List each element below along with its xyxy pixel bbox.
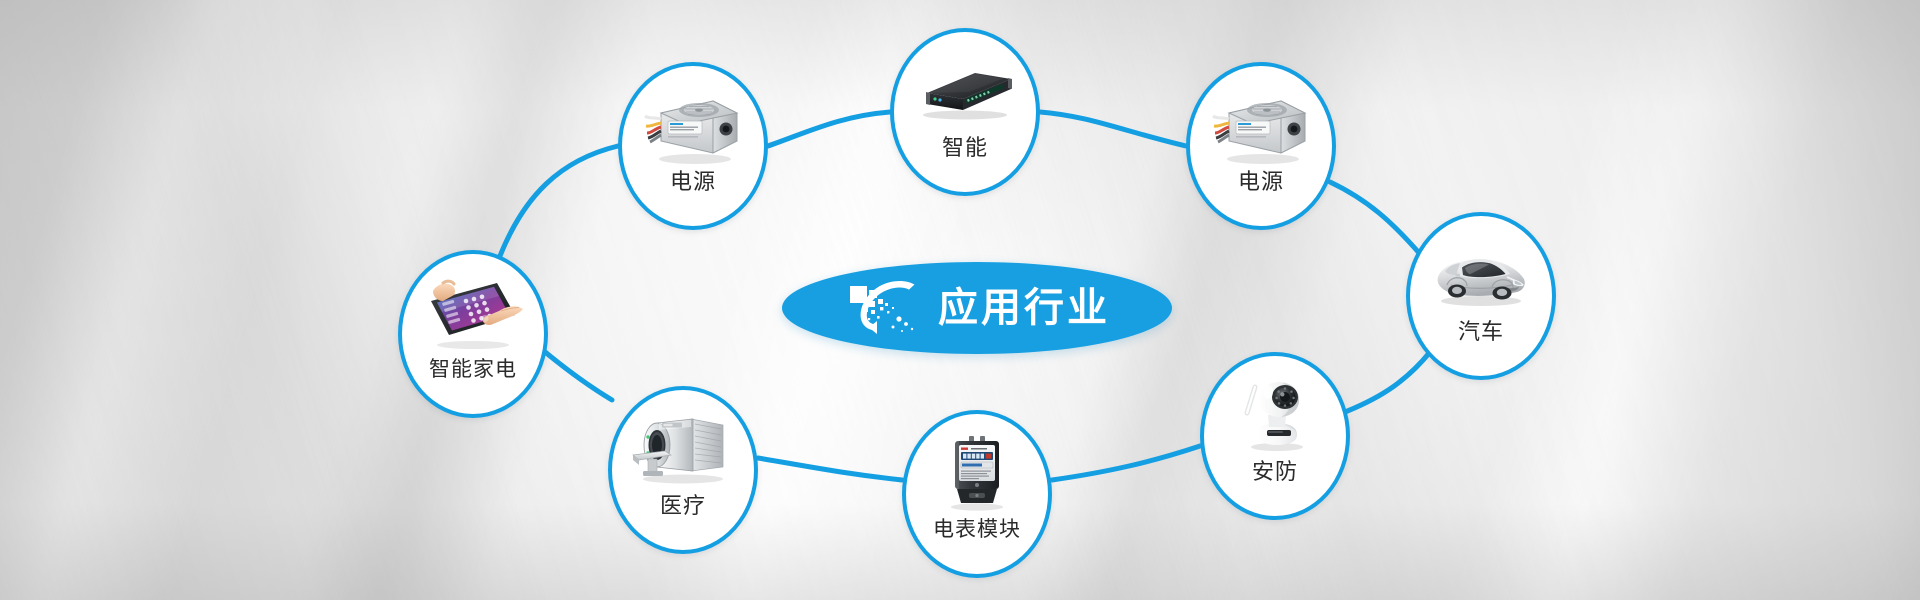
node-security[interactable]: 安防 bbox=[1200, 352, 1350, 520]
badge-title: 应用行业 bbox=[938, 288, 1110, 328]
orbit-pixel-logo bbox=[844, 277, 922, 339]
node-label: 医疗 bbox=[660, 495, 706, 517]
center-badge[interactable]: 应用行业 bbox=[782, 262, 1172, 354]
node-meter-module[interactable]: 电表模块 bbox=[902, 410, 1052, 578]
tablet-hand-icon bbox=[421, 271, 525, 357]
link-power-right-to-automotive bbox=[1330, 182, 1420, 254]
node-medical[interactable]: 医疗 bbox=[608, 386, 758, 554]
node-smart-home[interactable]: 智能家电 bbox=[398, 250, 548, 418]
node-automotive[interactable]: 汽车 bbox=[1406, 212, 1556, 380]
node-label: 智能 bbox=[942, 137, 988, 159]
sports-car-icon bbox=[1429, 233, 1533, 319]
link-smart-home-to-power-left bbox=[500, 146, 618, 256]
node-smart[interactable]: 智能 bbox=[890, 28, 1040, 196]
link-meter-module-to-medical bbox=[758, 458, 902, 480]
node-label: 电表模块 bbox=[933, 519, 1021, 540]
node-power-left[interactable]: 电源 bbox=[618, 62, 768, 230]
link-smart-to-power-right bbox=[1040, 112, 1186, 146]
application-industries-banner: 电源 bbox=[0, 0, 1920, 600]
atx-power-supply-icon bbox=[1209, 83, 1313, 169]
link-automotive-to-security bbox=[1340, 352, 1430, 414]
node-label: 汽车 bbox=[1458, 321, 1504, 343]
ct-scanner-icon bbox=[631, 407, 735, 493]
ip-camera-icon bbox=[1223, 373, 1327, 459]
node-label: 电源 bbox=[1238, 171, 1284, 193]
node-label: 智能家电 bbox=[429, 359, 517, 380]
link-security-to-meter-module bbox=[1052, 446, 1200, 480]
node-label: 安防 bbox=[1252, 461, 1298, 483]
rack-server-icon bbox=[913, 49, 1017, 135]
electric-meter-icon bbox=[925, 431, 1029, 517]
atx-power-supply-icon bbox=[641, 83, 745, 169]
node-label: 电源 bbox=[670, 171, 716, 193]
link-power-left-to-smart bbox=[768, 112, 890, 146]
node-power-right[interactable]: 电源 bbox=[1186, 62, 1336, 230]
